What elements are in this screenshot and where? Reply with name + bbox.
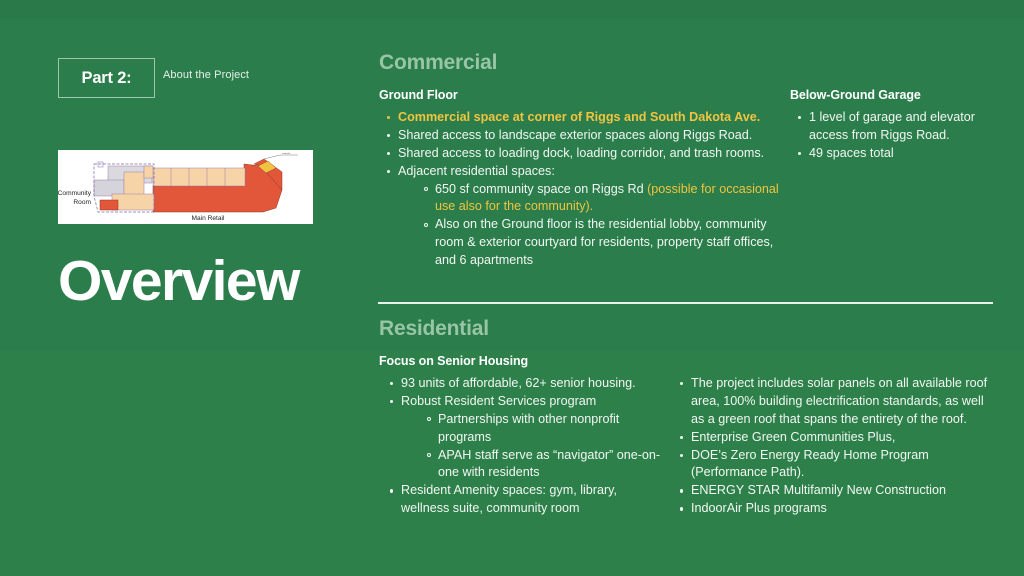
bullet-text: IndoorAir Plus programs — [691, 501, 827, 515]
about-the-project-label: About the Project — [163, 69, 249, 81]
subheading-ground-floor: Ground Floor — [379, 88, 458, 102]
bullet-text: Shared access to landscape exterior spac… — [398, 128, 752, 142]
background-band-top — [0, 0, 1024, 19]
floor-plan-image: residential Community Room Main Retail — [58, 150, 313, 224]
sub-bullet-text: 650 sf community space on Riggs Rd — [435, 182, 647, 196]
list-item: ENERGY STAR Multifamily New Construction — [676, 482, 996, 500]
residential-left-bullet-list: 93 units of affordable, 62+ senior housi… — [386, 375, 666, 518]
page-title: Overview — [58, 253, 299, 310]
sub-list-item: Partnerships with other nonprofit progra… — [424, 411, 666, 447]
bullet-text: 93 units of affordable, 62+ senior housi… — [401, 376, 636, 390]
bullet-text: ENERGY STAR Multifamily New Construction — [691, 483, 946, 497]
sub-bullet-text: Also on the Ground floor is the resident… — [435, 217, 773, 267]
list-item: Shared access to landscape exterior spac… — [383, 127, 787, 145]
floor-plan-label-community-room-line1: Community — [58, 190, 92, 197]
list-item: 49 spaces total — [794, 145, 999, 163]
sub-bullet-text: Partnerships with other nonprofit progra… — [438, 412, 619, 444]
bullet-text: Resident Amenity spaces: gym, library, w… — [401, 483, 617, 515]
part-number-label: Part 2: — [82, 69, 132, 88]
bullet-text: DOE’s Zero Energy Ready Home Program (Pe… — [691, 448, 929, 480]
bullet-text: 1 level of garage and elevator access fr… — [809, 110, 975, 142]
sub-list-item: APAH staff serve as “navigator” one-on-o… — [424, 447, 666, 483]
residential-sub-bullet-list: Partnerships with other nonprofit progra… — [401, 411, 666, 483]
list-item: 93 units of affordable, 62+ senior housi… — [386, 375, 666, 393]
list-item: Commercial space at corner of Riggs and … — [383, 109, 787, 127]
bullet-text: The project includes solar panels on all… — [691, 376, 987, 426]
svg-text:residential: residential — [282, 152, 291, 155]
list-item: Adjacent residential spaces: 650 sf comm… — [383, 163, 787, 270]
list-item: DOE’s Zero Energy Ready Home Program (Pe… — [676, 447, 996, 483]
bullet-text: 49 spaces total — [809, 146, 894, 160]
slide-canvas: Part 2: About the Project — [0, 0, 1024, 576]
list-item: Shared access to loading dock, loading c… — [383, 145, 787, 163]
sub-bullet-text: APAH staff serve as “navigator” one-on-o… — [438, 448, 660, 480]
list-item: Resident Amenity spaces: gym, library, w… — [386, 482, 666, 518]
sub-list-item: 650 sf community space on Riggs Rd (poss… — [421, 181, 787, 217]
bullet-text: Robust Resident Services program — [401, 394, 596, 408]
list-item: IndoorAir Plus programs — [676, 500, 996, 518]
subheading-focus-on-senior-housing: Focus on Senior Housing — [379, 354, 528, 368]
bullet-text: Shared access to loading dock, loading c… — [398, 146, 764, 160]
list-item: 1 level of garage and elevator access fr… — [794, 109, 999, 145]
floor-plan-label-community-room-line2: Room — [73, 199, 91, 206]
floor-plan-diagram: residential Community Room Main Retail — [58, 150, 313, 224]
garage-bullet-list: 1 level of garage and elevator access fr… — [794, 109, 999, 163]
section-heading-residential: Residential — [379, 317, 489, 341]
residential-right-bullet-list: The project includes solar panels on all… — [676, 375, 996, 518]
list-item: Enterprise Green Communities Plus, — [676, 429, 996, 447]
floor-plan-label-main-retail: Main Retail — [192, 215, 226, 222]
list-item: Robust Resident Services program Partner… — [386, 393, 666, 482]
part-number-box: Part 2: — [58, 58, 155, 98]
subheading-below-ground-garage: Below-Ground Garage — [790, 88, 921, 102]
sub-list-item: Also on the Ground floor is the resident… — [421, 216, 787, 270]
ground-floor-bullet-list: Commercial space at corner of Riggs and … — [383, 109, 787, 270]
bullet-text: Enterprise Green Communities Plus, — [691, 430, 895, 444]
ground-floor-sub-bullet-list: 650 sf community space on Riggs Rd (poss… — [398, 181, 787, 270]
section-heading-commercial: Commercial — [379, 51, 497, 75]
section-divider — [378, 302, 993, 304]
list-item: The project includes solar panels on all… — [676, 375, 996, 429]
bullet-text: Adjacent residential spaces: — [398, 164, 555, 178]
bullet-text: Commercial space at corner of Riggs and … — [398, 110, 760, 124]
